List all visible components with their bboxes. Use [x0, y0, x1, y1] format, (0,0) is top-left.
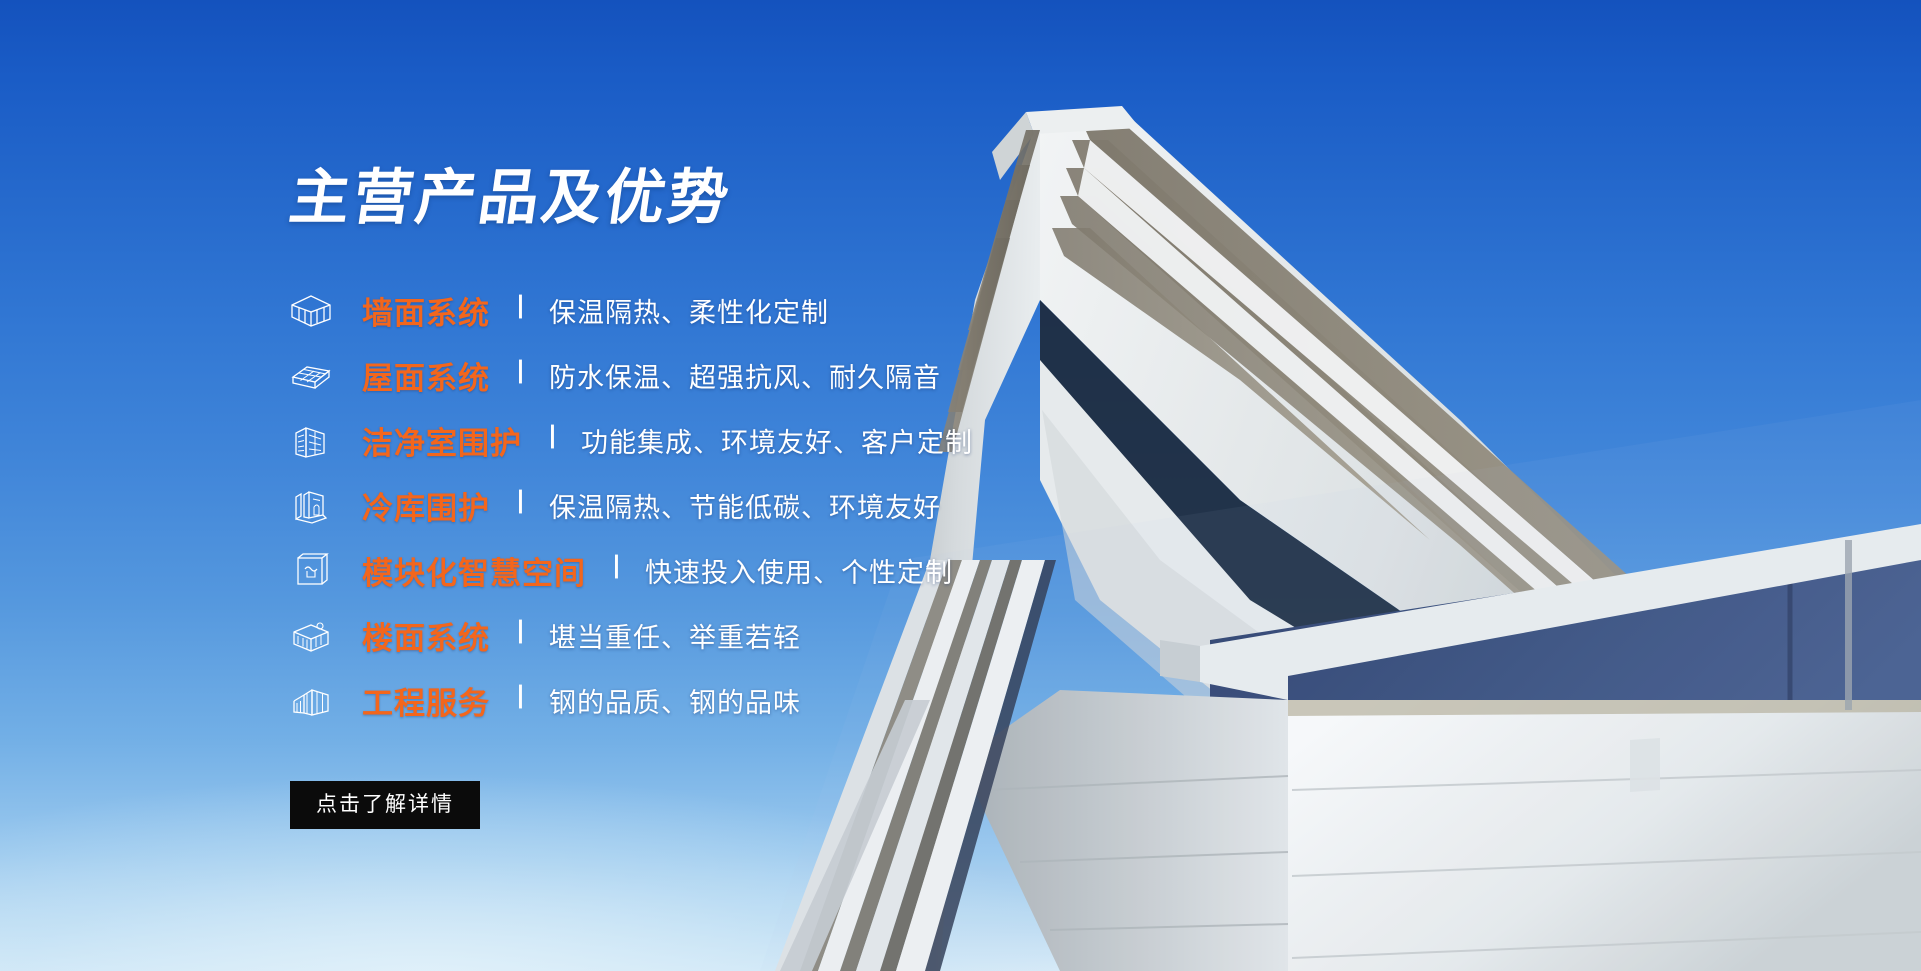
hero-banner: 主营产品及优势 墙面系统 丨 保温隔热、柔性化定	[0, 0, 1921, 971]
product-term: 冷库围护	[362, 483, 490, 528]
list-item[interactable]: 屋面系统 丨 防水保温、超强抗风、耐久隔音	[290, 343, 1190, 408]
learn-more-button[interactable]: 点击了解详情	[290, 781, 480, 829]
separator: 丨	[508, 361, 533, 386]
product-term: 洁净室围护	[362, 418, 522, 463]
product-desc: 保温隔热、柔性化定制	[549, 291, 829, 330]
product-term: 工程服务	[362, 678, 490, 723]
content-panel: 主营产品及优势 墙面系统 丨 保温隔热、柔性化定	[290, 168, 1190, 829]
modular-cube-wireframe-icon	[290, 552, 362, 590]
product-term: 模块化智慧空间	[362, 548, 586, 593]
floor-deck-wireframe-icon	[290, 617, 362, 655]
separator: 丨	[508, 296, 533, 321]
list-item[interactable]: 洁净室围护 丨 功能集成、环境友好、客户定制	[290, 408, 1190, 473]
product-desc: 功能集成、环境友好、客户定制	[581, 421, 973, 460]
cold-storage-wireframe-icon	[290, 487, 362, 525]
cleanroom-building-wireframe-icon	[290, 422, 362, 460]
list-item[interactable]: 墙面系统 丨 保温隔热、柔性化定制	[290, 278, 1190, 343]
product-desc: 防水保温、超强抗风、耐久隔音	[549, 356, 941, 395]
roof-slab-wireframe-icon	[290, 357, 362, 395]
product-desc: 堪当重任、举重若轻	[549, 616, 801, 655]
product-list: 墙面系统 丨 保温隔热、柔性化定制 屋面系统	[290, 278, 1190, 733]
product-desc: 钢的品质、钢的品味	[549, 681, 801, 720]
product-term: 墙面系统	[362, 288, 490, 333]
factory-building-wireframe-icon	[290, 682, 362, 720]
separator: 丨	[604, 556, 629, 581]
separator: 丨	[508, 621, 533, 646]
list-item[interactable]: 模块化智慧空间 丨 快速投入使用、个性定制	[290, 538, 1190, 603]
list-item[interactable]: 楼面系统 丨 堪当重任、举重若轻	[290, 603, 1190, 668]
product-term: 楼面系统	[362, 613, 490, 658]
page-title: 主营产品及优势	[286, 168, 1194, 228]
separator: 丨	[540, 426, 565, 451]
separator: 丨	[508, 686, 533, 711]
product-desc: 快速投入使用、个性定制	[645, 551, 953, 590]
list-item[interactable]: 工程服务 丨 钢的品质、钢的品味	[290, 668, 1190, 733]
product-term: 屋面系统	[362, 353, 490, 398]
product-desc: 保温隔热、节能低碳、环境友好	[549, 486, 941, 525]
separator: 丨	[508, 491, 533, 516]
wall-panel-wireframe-icon	[290, 292, 362, 330]
list-item[interactable]: 冷库围护 丨 保温隔热、节能低碳、环境友好	[290, 473, 1190, 538]
